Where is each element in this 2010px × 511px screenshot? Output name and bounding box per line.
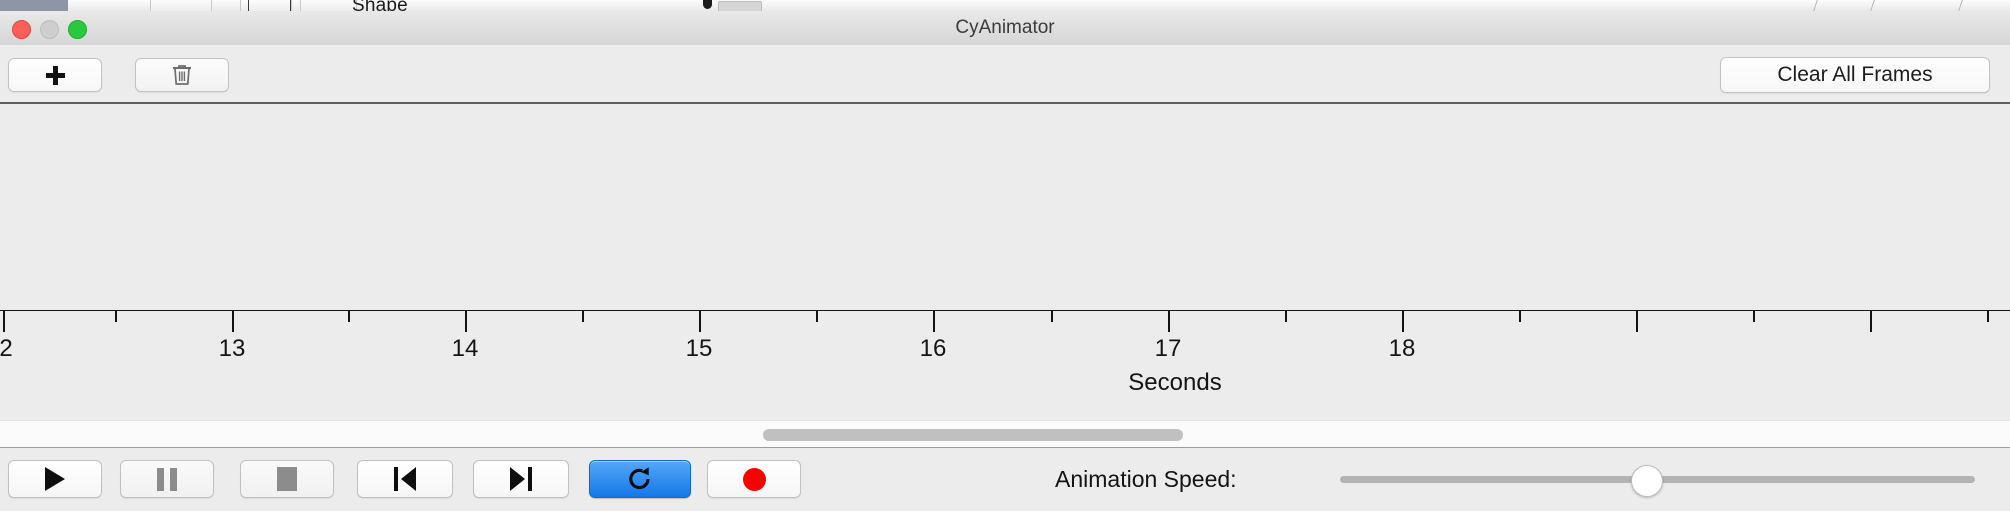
skip-to-start-button[interactable] bbox=[357, 460, 453, 498]
clear-all-frames-label: Clear All Frames bbox=[1777, 63, 1932, 87]
axis-tick-minor bbox=[348, 310, 350, 322]
axis-tick-label: 18 bbox=[1389, 335, 1416, 363]
axis-tick-major bbox=[699, 310, 701, 332]
loop-button[interactable] bbox=[589, 460, 691, 498]
background-window-tick bbox=[290, 0, 291, 11]
add-frame-button[interactable] bbox=[8, 58, 102, 92]
stop-icon bbox=[277, 467, 297, 491]
timeline-horizontal-scrollbar[interactable] bbox=[0, 420, 2010, 449]
axis-tick-label: 15 bbox=[686, 335, 713, 363]
plus-icon bbox=[46, 66, 65, 85]
axis-tick-minor bbox=[1051, 310, 1053, 322]
background-window-segment bbox=[150, 0, 212, 11]
background-window-divider bbox=[1870, 0, 1885, 11]
axis-tick-minor bbox=[115, 310, 117, 322]
axis-tick-minor bbox=[1519, 310, 1521, 322]
axis-tick-label: 2 bbox=[0, 335, 13, 363]
axis-tick-minor bbox=[1753, 310, 1755, 322]
pause-icon bbox=[157, 468, 177, 491]
axis-tick-minor bbox=[1987, 310, 1989, 322]
toolbar: Clear All Frames bbox=[0, 45, 2010, 102]
axis-tick-major bbox=[232, 310, 234, 332]
delete-frame-button[interactable] bbox=[135, 58, 229, 92]
cyanimator-window: Shape CyAnimator bbox=[0, 0, 2010, 510]
animation-speed-slider-thumb[interactable] bbox=[1631, 465, 1663, 497]
axis-tick-label: 13 bbox=[219, 335, 246, 363]
play-icon bbox=[45, 467, 65, 491]
skip-previous-icon bbox=[394, 467, 416, 491]
background-window-tick bbox=[248, 0, 249, 11]
pause-button[interactable] bbox=[120, 460, 214, 498]
animation-speed-label: Animation Speed: bbox=[1055, 460, 1237, 498]
trash-icon bbox=[171, 63, 193, 87]
clear-all-frames-button[interactable]: Clear All Frames bbox=[1720, 57, 1990, 93]
axis-tick-major bbox=[1168, 310, 1170, 332]
background-window-divider bbox=[1813, 0, 1828, 11]
record-icon bbox=[743, 468, 766, 491]
loop-icon bbox=[626, 465, 654, 493]
axis-tick-label: 17 bbox=[1155, 335, 1182, 363]
background-window-divider bbox=[1958, 0, 1973, 11]
skip-next-icon bbox=[510, 467, 532, 491]
axis-tick-major bbox=[1870, 310, 1872, 332]
scrollbar-thumb[interactable] bbox=[763, 429, 1183, 441]
axis-title: Seconds bbox=[1128, 369, 1221, 397]
background-window-sidebar bbox=[0, 0, 68, 11]
record-button[interactable] bbox=[707, 460, 801, 498]
background-window-segment bbox=[300, 0, 357, 11]
axis-tick-major bbox=[465, 310, 467, 332]
axis-tick-major bbox=[1402, 310, 1404, 332]
playback-toolbar: Animation Speed: bbox=[0, 447, 2010, 511]
axis-tick-major bbox=[933, 310, 935, 332]
axis-tick-label: 14 bbox=[452, 335, 479, 363]
axis-tick-minor bbox=[816, 310, 818, 322]
axis-tick-label: 16 bbox=[920, 335, 947, 363]
axis-tick-major bbox=[1636, 310, 1638, 332]
play-button[interactable] bbox=[8, 460, 102, 498]
window-title: CyAnimator bbox=[0, 11, 2010, 45]
titlebar[interactable]: CyAnimator bbox=[0, 11, 2010, 46]
stop-button[interactable] bbox=[240, 460, 334, 498]
background-window-marker bbox=[703, 0, 712, 9]
axis-tick-minor bbox=[1285, 310, 1287, 322]
skip-to-end-button[interactable] bbox=[473, 460, 569, 498]
axis-tick-major bbox=[3, 310, 5, 332]
axis-tick-minor bbox=[582, 310, 584, 322]
frames-timeline-panel[interactable]: MCM1 bbox=[0, 104, 2010, 310]
timeline-axis: 2 13 14 15 16 17 18 Seconds bbox=[0, 310, 2010, 420]
